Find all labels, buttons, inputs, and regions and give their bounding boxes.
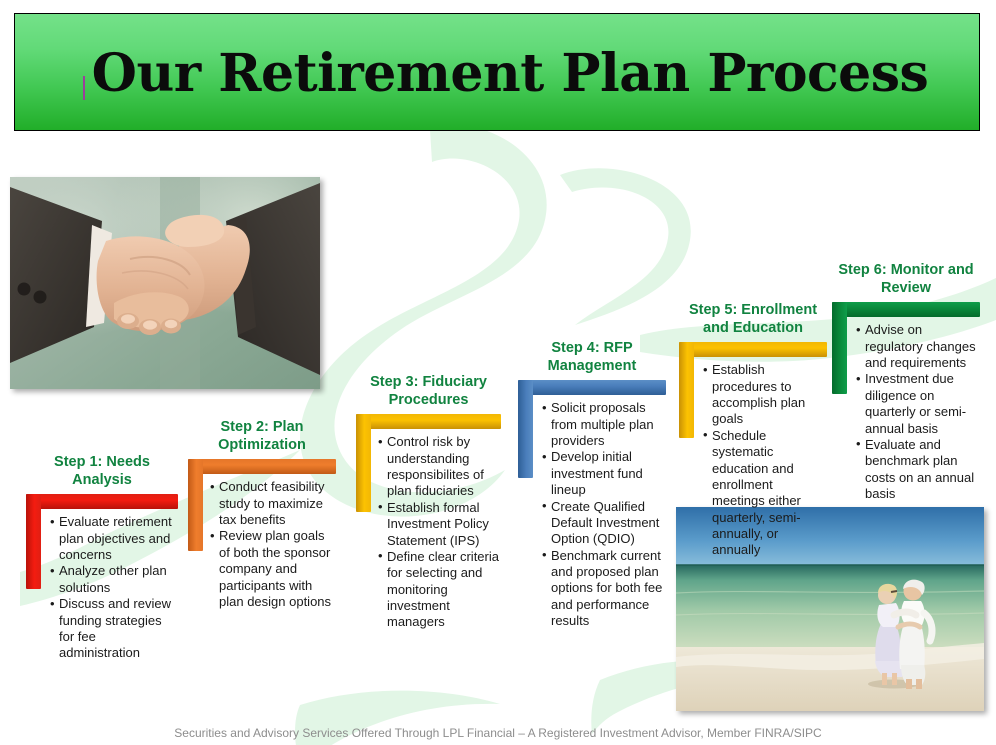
step-bracket: Control risk by understanding responsibi… [356, 414, 501, 631]
list-item: Analyze other plan solutions [50, 563, 178, 596]
bracket-top-bar [679, 342, 827, 357]
list-item: Create Qualified Default Investment Opti… [542, 499, 666, 548]
step-block-4: Step 4: RFP Management Solicit proposals… [518, 339, 666, 630]
list-item: Establish formal Investment Policy State… [378, 500, 501, 549]
list-item: Control risk by understanding responsibi… [378, 434, 501, 500]
step-title: Step 2: Plan Optimization [188, 418, 336, 454]
step-bracket: Solicit proposals from multiple plan pro… [518, 380, 666, 629]
slide-canvas: Our Retirement Plan Process [0, 0, 996, 745]
list-item: Conduct feasibility study to maximize ta… [210, 479, 336, 528]
step-bullet-list: Advise on regulatory changes and require… [856, 322, 980, 502]
step-title: Step 6: Monitor and Review [832, 261, 980, 297]
bracket-top-bar [188, 459, 336, 474]
bracket-top-bar [26, 494, 178, 509]
disclaimer-footer: Securities and Advisory Services Offered… [0, 726, 996, 740]
step-title: Step 1: Needs Analysis [26, 453, 178, 489]
bracket-top-bar [518, 380, 666, 395]
list-item: Define clear criteria for selecting and … [378, 549, 501, 631]
list-item: Evaluate and benchmark plan costs on an … [856, 437, 980, 503]
step-block-2: Step 2: Plan Optimization Conduct feasib… [188, 418, 336, 610]
step-bracket: Advise on regulatory changes and require… [832, 302, 980, 502]
bracket-left-bar [832, 302, 847, 394]
bracket-top-bar [356, 414, 501, 429]
step-block-3: Step 3: Fiduciary Procedures Control ris… [356, 373, 501, 631]
step-title: Step 5: Enrollment and Education [679, 301, 827, 337]
bracket-left-bar [356, 414, 371, 512]
list-item: Solicit proposals from multiple plan pro… [542, 400, 666, 449]
step-block-1: Step 1: Needs Analysis Evaluate retireme… [26, 453, 178, 662]
bracket-left-bar [188, 459, 203, 551]
step-bullet-list: Evaluate retirement plan objectives and … [50, 514, 178, 661]
step-bracket: Establish procedures to accomplish plan … [679, 342, 827, 559]
bracket-left-bar [518, 380, 533, 478]
step-bullet-list: Establish procedures to accomplish plan … [703, 362, 827, 559]
list-item: Establish procedures to accomplish plan … [703, 362, 827, 428]
list-item: Advise on regulatory changes and require… [856, 322, 980, 371]
step-bracket: Evaluate retirement plan objectives and … [26, 494, 178, 661]
list-item: Evaluate retirement plan objectives and … [50, 514, 178, 563]
bracket-top-bar [832, 302, 980, 317]
step-bullet-list: Conduct feasibility study to maximize ta… [210, 479, 336, 610]
list-item: Discuss and review funding strategies fo… [50, 596, 178, 662]
step-bullet-list: Solicit proposals from multiple plan pro… [542, 400, 666, 629]
list-item: Review plan goals of both the sponsor co… [210, 528, 336, 610]
step-block-5: Step 5: Enrollment and Education Establi… [679, 301, 827, 559]
step-block-6: Step 6: Monitor and Review Advise on reg… [832, 261, 980, 502]
list-item: Investment due diligence on quarterly or… [856, 371, 980, 437]
page-title: Our Retirement Plan Process [15, 14, 981, 132]
step-title: Step 4: RFP Management [518, 339, 666, 375]
step-bracket: Conduct feasibility study to maximize ta… [188, 459, 336, 610]
list-item: Benchmark current and proposed plan opti… [542, 548, 666, 630]
title-banner: Our Retirement Plan Process [14, 13, 980, 131]
bracket-left-bar [679, 342, 694, 438]
bracket-left-bar [26, 494, 41, 589]
handshake-photo [10, 177, 320, 389]
step-bullet-list: Control risk by understanding responsibi… [378, 434, 501, 631]
handshake-photo-art [10, 177, 320, 389]
step-title: Step 3: Fiduciary Procedures [356, 373, 501, 409]
list-item: Schedule systematic education and enroll… [703, 428, 827, 559]
list-item: Develop initial investment fund lineup [542, 449, 666, 498]
